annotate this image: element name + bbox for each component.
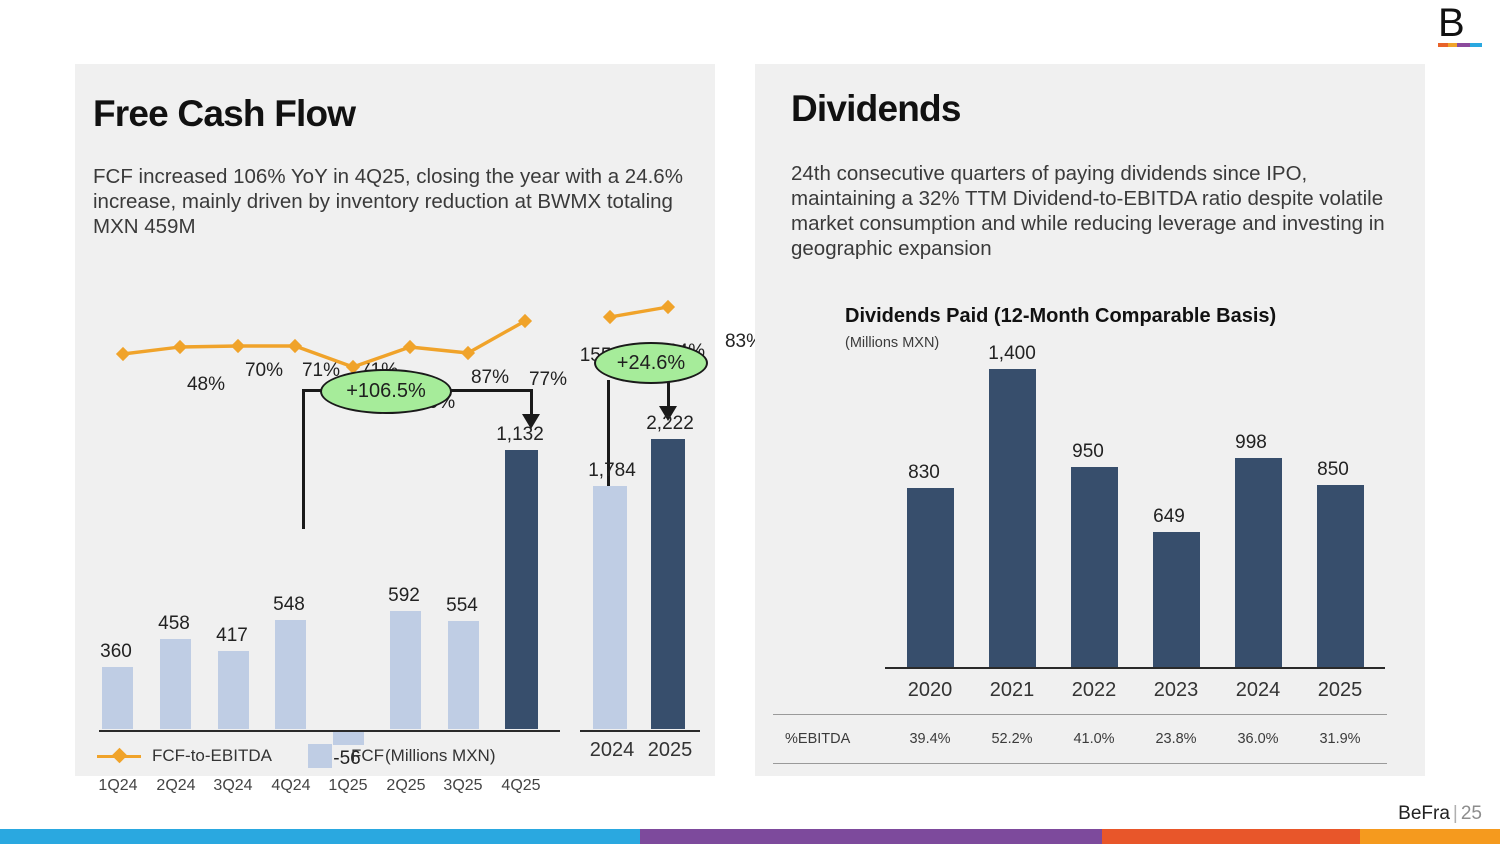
legend-label-fcf-to-ebitda: FCF-to-EBITDA: [152, 746, 272, 766]
dividend-category-2024: 2024: [1222, 679, 1294, 702]
table-cell-ebitda-2021: 52.2%: [976, 731, 1048, 747]
fcf-bar-2025: [651, 439, 685, 729]
dividends-chart-subtitle: (Millions MXN): [845, 335, 939, 351]
fcf-annual-change-badge: +24.6%: [594, 342, 708, 384]
fcf-value-label-2q25: 592: [373, 585, 435, 607]
fcf-value-label-4q25: 1,132: [484, 424, 556, 446]
logo-stripes: [1438, 43, 1482, 47]
fcf-category-4q24: 4Q24: [260, 777, 322, 795]
dividends-panel: Dividends 24th consecutive quarters of p…: [755, 64, 1425, 776]
dividend-value-label-2025: 850: [1297, 459, 1369, 481]
fcf-value-label-4q24: 548: [258, 594, 320, 616]
table-row-label: %EBITDA: [785, 731, 850, 747]
dividend-bar-2020: [907, 488, 954, 668]
fcf-category-1q25: 1Q25: [317, 777, 379, 795]
fcf-bar-1q25: [333, 732, 364, 745]
fcf-quarterly-axis: [99, 730, 560, 732]
dividend-category-2020: 2020: [894, 679, 966, 702]
fcf-value-label-1q24: 360: [85, 641, 147, 663]
dividend-value-label-2020: 830: [888, 462, 960, 484]
dividend-bar-2021: [989, 369, 1036, 668]
footer-color-bar: [0, 829, 1500, 844]
dividend-bar-2024: [1235, 458, 1282, 668]
quarterly-connector-horizontal-right: [445, 389, 532, 392]
fcf-quarterly-change-badge: +106.5%: [320, 369, 452, 414]
brand-logo: B: [1438, 6, 1484, 52]
legend-bar-swatch: [308, 744, 332, 768]
quarterly-connector-vertical-left: [302, 389, 305, 529]
quarterly-connector-vertical-right: [530, 389, 533, 416]
legend-label-fcf: FCF: [351, 746, 384, 766]
fcf-category-2q25: 2Q25: [375, 777, 437, 795]
table-divider-bottom: [773, 763, 1387, 764]
dividend-bar-2023: [1153, 532, 1200, 668]
fcf-bar-2q25: [390, 611, 421, 729]
fcf-category-1q24: 1Q24: [87, 777, 149, 795]
fcf-category-2025: 2025: [634, 739, 706, 762]
dividend-category-2023: 2023: [1140, 679, 1212, 702]
legend-label-fcf-unit: (Millions MXN): [385, 746, 496, 766]
dividend-value-label-2021: 1,400: [969, 343, 1055, 365]
free-cash-flow-panel: Free Cash Flow FCF increased 106% YoY in…: [75, 64, 715, 776]
fcf-value-label-3q25: 554: [431, 595, 493, 617]
dividend-category-2021: 2021: [976, 679, 1048, 702]
fcf-bar-4q25: [505, 450, 538, 729]
annual-connector-vertical-right: [667, 380, 670, 408]
footer-brand: BeFra|25: [1398, 803, 1482, 825]
page-title-dividends: Dividends: [791, 90, 961, 127]
fcf-value-label-2024: 1,784: [576, 460, 648, 482]
dividends-description: 24th consecutive quarters of paying divi…: [791, 161, 1406, 261]
fcf-annual-axis: [580, 730, 700, 732]
table-divider-top: [773, 714, 1387, 715]
fcf-value-label-3q24: 417: [201, 625, 263, 647]
dividend-value-label-2024: 998: [1215, 432, 1287, 454]
fcf-bar-3q24: [218, 651, 249, 729]
footer-page-number: 25: [1461, 803, 1482, 824]
footer-separator: |: [1453, 803, 1458, 824]
fcf-line-markers: [116, 300, 675, 374]
dividends-axis: [885, 667, 1385, 669]
table-cell-ebitda-2025: 31.9%: [1304, 731, 1376, 747]
fcf-category-4q25: 4Q25: [490, 777, 552, 795]
fcf-bar-1q24: [102, 667, 133, 729]
fcf-value-label-2q24: 458: [143, 613, 205, 635]
fcf-category-2q24: 2Q24: [145, 777, 207, 795]
fcf-bar-2024: [593, 486, 627, 729]
fcf-bar-3q25: [448, 621, 479, 729]
table-cell-ebitda-2022: 41.0%: [1058, 731, 1130, 747]
dividend-category-2025: 2025: [1304, 679, 1376, 702]
fcf-category-3q25: 3Q25: [432, 777, 494, 795]
dividend-value-label-2023: 649: [1133, 506, 1205, 528]
fcf-bar-2q24: [160, 639, 191, 729]
fcf-category-3q24: 3Q24: [202, 777, 264, 795]
dividend-value-label-2022: 950: [1052, 441, 1124, 463]
footer-brand-name: BeFra: [1398, 803, 1450, 824]
dividend-bar-2022: [1071, 467, 1118, 668]
table-cell-ebitda-2023: 23.8%: [1140, 731, 1212, 747]
fcf-value-label-2025: 2,222: [634, 413, 706, 435]
dividend-bar-2025: [1317, 485, 1364, 668]
dividend-category-2022: 2022: [1058, 679, 1130, 702]
logo-letter: B: [1438, 6, 1484, 40]
fcf-bar-4q24: [275, 620, 306, 729]
table-cell-ebitda-2020: 39.4%: [894, 731, 966, 747]
dividends-chart-title: Dividends Paid (12-Month Comparable Basi…: [845, 305, 1276, 328]
table-cell-ebitda-2024: 36.0%: [1222, 731, 1294, 747]
